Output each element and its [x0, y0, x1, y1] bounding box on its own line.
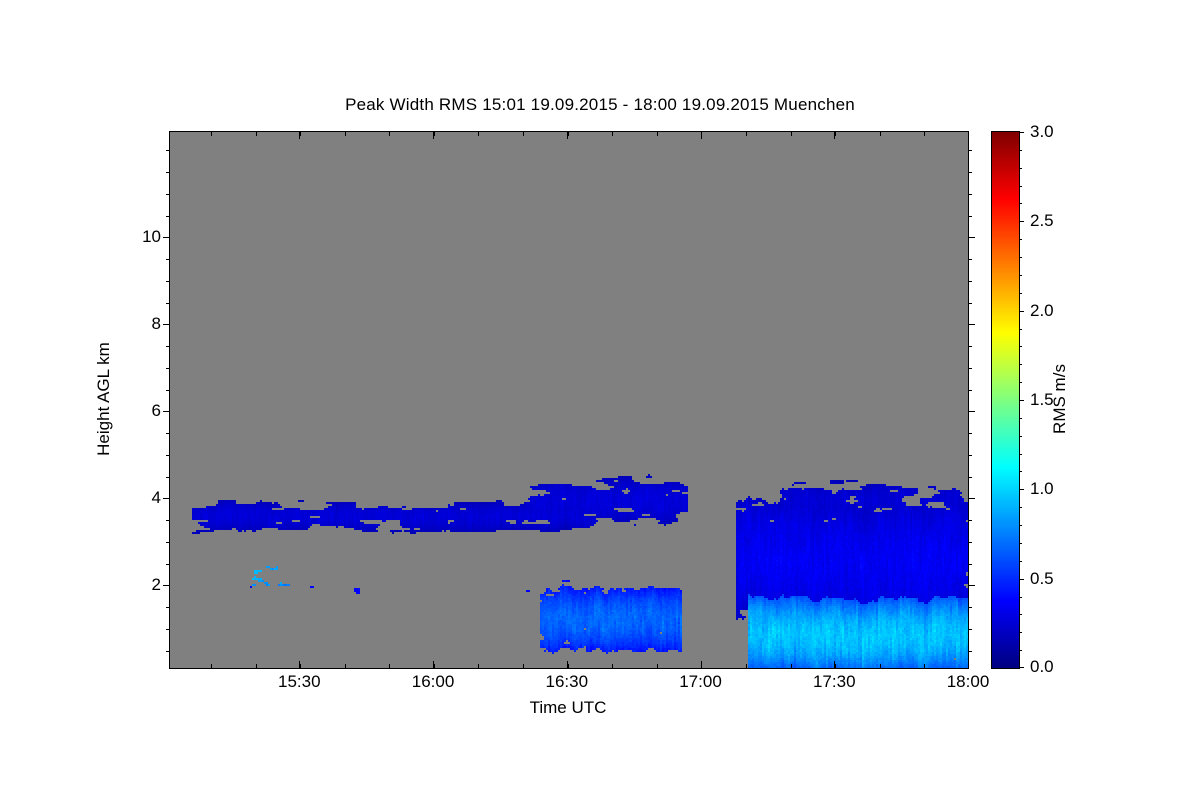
y-tick-minor-right	[968, 520, 972, 521]
colorbar-tick-label: 1.0	[1030, 479, 1054, 499]
x-tick-major	[968, 661, 969, 668]
x-axis-title: Time UTC	[530, 698, 607, 718]
x-tick-major-top	[701, 132, 702, 139]
x-tick-minor-top	[345, 132, 346, 136]
y-tick-minor-right	[968, 259, 972, 260]
colorbar-tick-minor	[1019, 203, 1022, 204]
colorbar-tick-minor	[1019, 382, 1022, 383]
y-tick-minor	[166, 542, 170, 543]
x-tick-major-top	[567, 132, 568, 139]
x-tick-minor	[345, 664, 346, 668]
y-tick-minor-right	[968, 281, 972, 282]
y-tick-minor-right	[968, 564, 972, 565]
colorbar-tick-major	[1019, 311, 1024, 312]
y-tick-minor-right	[968, 455, 972, 456]
x-tick-minor-top	[657, 132, 658, 136]
y-tick-label: 2	[152, 575, 161, 595]
y-tick-minor-right	[968, 346, 972, 347]
y-tick-major-right	[968, 498, 975, 499]
x-tick-minor-top	[924, 132, 925, 136]
colorbar-tick-minor	[1019, 329, 1022, 330]
colorbar-tick-label: 3.0	[1030, 122, 1054, 142]
colorbar-tick-label: 0.5	[1030, 569, 1054, 589]
y-tick-major	[163, 498, 170, 499]
x-tick-minor	[880, 664, 881, 668]
chart-title: Peak Width RMS 15:01 19.09.2015 - 18:00 …	[0, 95, 1200, 115]
colorbar-tick-minor	[1019, 186, 1022, 187]
colorbar-tick-major	[1019, 221, 1024, 222]
y-tick-minor	[166, 607, 170, 608]
colorbar-tick-label: 2.5	[1030, 211, 1054, 231]
y-tick-major	[163, 585, 170, 586]
y-tick-major-right	[968, 237, 975, 238]
colorbar-tick-minor	[1019, 346, 1022, 347]
y-tick-major-right	[968, 585, 975, 586]
heatmap-field	[170, 132, 968, 668]
x-tick-minor	[701, 664, 702, 668]
x-tick-minor	[924, 664, 925, 668]
colorbar-tick-minor	[1019, 543, 1022, 544]
colorbar-tick-minor	[1019, 275, 1022, 276]
y-tick-major	[163, 411, 170, 412]
y-tick-label: 6	[152, 401, 161, 421]
x-tick-minor	[568, 664, 569, 668]
x-tick-minor-top	[835, 132, 836, 136]
colorbar-tick-major	[1019, 400, 1024, 401]
x-tick-minor-top	[612, 132, 613, 136]
x-tick-minor	[523, 664, 524, 668]
x-tick-minor-top	[523, 132, 524, 136]
y-tick-minor	[166, 520, 170, 521]
colorbar-tick-minor	[1019, 293, 1022, 294]
y-tick-minor	[166, 259, 170, 260]
x-tick-label: 17:30	[813, 672, 856, 692]
colorbar: 0.00.51.01.52.02.53.0	[991, 131, 1020, 669]
colorbar-tick-minor	[1019, 454, 1022, 455]
x-tick-minor	[478, 664, 479, 668]
x-tick-minor-top	[389, 132, 390, 136]
colorbar-title: RMS m/s	[1050, 364, 1070, 434]
y-tick-label: 4	[152, 488, 161, 508]
colorbar-tick-major	[1019, 132, 1024, 133]
x-tick-minor-top	[746, 132, 747, 136]
x-tick-minor-top	[478, 132, 479, 136]
x-tick-minor	[746, 664, 747, 668]
y-tick-minor	[166, 194, 170, 195]
y-tick-label: 10	[142, 227, 161, 247]
y-tick-minor-right	[968, 303, 972, 304]
y-tick-minor	[166, 455, 170, 456]
y-tick-minor-right	[968, 390, 972, 391]
y-tick-minor	[166, 150, 170, 151]
y-tick-minor-right	[968, 607, 972, 608]
colorbar-tick-major	[1019, 489, 1024, 490]
x-tick-label: 17:00	[679, 672, 722, 692]
y-tick-minor	[166, 564, 170, 565]
y-tick-minor	[166, 216, 170, 217]
colorbar-tick-minor	[1019, 614, 1022, 615]
x-tick-label: 15:30	[278, 672, 321, 692]
colorbar-tick-minor	[1019, 418, 1022, 419]
y-tick-major-right	[968, 411, 975, 412]
colorbar-tick-minor	[1019, 364, 1022, 365]
x-tick-major	[701, 661, 702, 668]
x-tick-major-top	[433, 132, 434, 139]
y-axis-title: Height AGL km	[94, 342, 114, 456]
x-tick-major	[567, 661, 568, 668]
x-tick-label: 16:00	[412, 672, 455, 692]
y-tick-minor-right	[968, 172, 972, 173]
x-tick-minor-top	[880, 132, 881, 136]
y-tick-minor-right	[968, 368, 972, 369]
colorbar-tick-minor	[1019, 471, 1022, 472]
y-tick-major-right	[968, 324, 975, 325]
x-tick-minor	[791, 664, 792, 668]
colorbar-tick-minor	[1019, 436, 1022, 437]
x-tick-minor	[211, 664, 212, 668]
figure-canvas: Peak Width RMS 15:01 19.09.2015 - 18:00 …	[0, 0, 1200, 800]
x-tick-major-top	[299, 132, 300, 139]
y-tick-minor-right	[968, 150, 972, 151]
y-tick-minor	[166, 629, 170, 630]
x-tick-major	[299, 661, 300, 668]
y-tick-minor	[166, 368, 170, 369]
colorbar-tick-minor	[1019, 525, 1022, 526]
x-tick-minor-top	[568, 132, 569, 136]
colorbar-tick-minor	[1019, 150, 1022, 151]
y-tick-minor	[166, 281, 170, 282]
x-tick-minor-top	[701, 132, 702, 136]
colorbar-tick-minor	[1019, 168, 1022, 169]
y-tick-minor	[166, 433, 170, 434]
y-tick-major	[163, 324, 170, 325]
y-tick-minor	[166, 346, 170, 347]
x-tick-minor	[612, 664, 613, 668]
x-tick-major	[834, 661, 835, 668]
plot-area: 24681015:3016:0016:3017:0017:3018:00	[169, 131, 969, 669]
colorbar-tick-label: 0.0	[1030, 657, 1054, 677]
colorbar-tick-minor	[1019, 650, 1022, 651]
x-tick-minor-top	[791, 132, 792, 136]
y-tick-major	[163, 237, 170, 238]
y-tick-minor	[166, 303, 170, 304]
x-tick-minor	[835, 664, 836, 668]
y-tick-minor-right	[968, 542, 972, 543]
y-tick-minor	[166, 390, 170, 391]
x-tick-major-top	[968, 132, 969, 139]
x-tick-minor	[434, 664, 435, 668]
y-tick-minor-right	[968, 651, 972, 652]
y-tick-minor-right	[968, 216, 972, 217]
colorbar-tick-major	[1019, 579, 1024, 580]
y-tick-minor-right	[968, 477, 972, 478]
x-tick-label: 16:30	[545, 672, 588, 692]
y-tick-minor-right	[968, 194, 972, 195]
y-tick-minor	[166, 477, 170, 478]
y-tick-minor-right	[968, 629, 972, 630]
x-tick-minor	[657, 664, 658, 668]
x-tick-label: 18:00	[947, 672, 990, 692]
y-tick-minor-right	[968, 433, 972, 434]
x-tick-major-top	[834, 132, 835, 139]
x-tick-minor-top	[434, 132, 435, 136]
colorbar-tick-minor	[1019, 632, 1022, 633]
colorbar-tick-minor	[1019, 257, 1022, 258]
y-tick-label: 8	[152, 314, 161, 334]
colorbar-tick-minor	[1019, 239, 1022, 240]
x-tick-major	[433, 661, 434, 668]
colorbar-tick-label: 2.0	[1030, 301, 1054, 321]
colorbar-tick-minor	[1019, 561, 1022, 562]
x-tick-minor-top	[256, 132, 257, 136]
x-tick-minor	[256, 664, 257, 668]
colorbar-tick-minor	[1019, 597, 1022, 598]
x-tick-minor	[389, 664, 390, 668]
colorbar-gradient	[992, 132, 1019, 668]
y-tick-minor	[166, 651, 170, 652]
colorbar-tick-minor	[1019, 507, 1022, 508]
y-tick-minor	[166, 172, 170, 173]
x-tick-minor-top	[211, 132, 212, 136]
colorbar-tick-major	[1019, 667, 1024, 668]
